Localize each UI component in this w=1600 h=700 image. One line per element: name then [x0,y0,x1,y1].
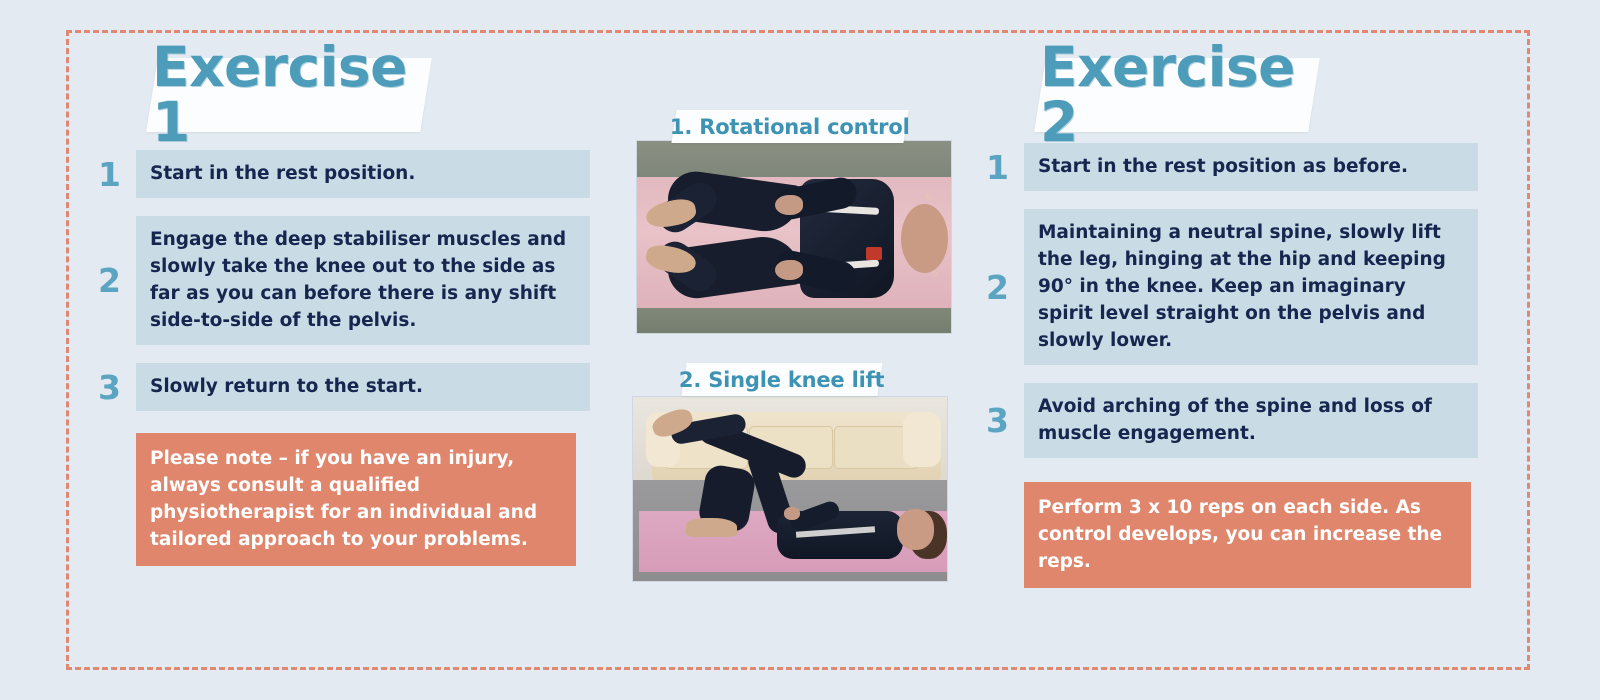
exercise1-title: Exercise 1 [152,40,426,150]
photo-1-caption: 1. Rotational control [670,115,910,139]
infographic-poster: Exercise 1 Exercise 2 1 Start in the res… [0,0,1600,700]
exercise2-title-banner: Exercise 2 [1034,58,1320,132]
step-number: 1 [90,158,136,191]
step-number: 2 [978,271,1024,304]
exercise1-column: 1 Start in the rest position. 2 Engage t… [90,150,590,566]
step-number: 3 [90,371,136,404]
step-text: Engage the deep stabiliser muscles and s… [136,216,590,345]
photo-1-caption-banner: 1. Rotational control [671,110,908,143]
jacket-badge [866,247,882,260]
upper-hand [775,195,803,215]
photo-2-caption: 2. Single knee lift [679,368,884,392]
exercise1-step-2: 2 Engage the deep stabiliser muscles and… [90,216,590,345]
exercise1-step-1: 1 Start in the rest position. [90,150,590,198]
support-foot [686,518,736,536]
exercise2-step-2: 2 Maintaining a neutral spine, slowly li… [978,209,1478,365]
hand [784,507,800,520]
exercise1-note: Please note – if you have an injury, alw… [136,433,576,566]
head [897,509,935,549]
step-number: 2 [90,264,136,297]
exercise2-column: 1 Start in the rest position as before. … [978,143,1478,588]
exercise2-step-1: 1 Start in the rest position as before. [978,143,1478,191]
step-number: 3 [978,404,1024,437]
photo-2-single-knee-lift: ○ [632,396,948,582]
photo-2-image: ○ [632,396,948,582]
step-text: Maintaining a neutral spine, slowly lift… [1024,209,1478,365]
photo-1-rotational-control: ○ ○ [636,140,952,334]
lower-hand [775,260,803,280]
sofa-armrest [903,412,941,467]
exercise1-title-banner: Exercise 1 [146,58,432,132]
mat-logo-icon: ○ [926,191,933,203]
photo-1-image: ○ ○ [636,140,952,334]
step-text: Start in the rest position. [136,150,590,198]
step-text: Start in the rest position as before. [1024,143,1478,191]
step-text: Avoid arching of the spine and loss of m… [1024,383,1478,458]
step-number: 1 [978,151,1024,184]
head [901,204,948,273]
step-text: Slowly return to the start. [136,363,590,411]
exercise2-note: Perform 3 x 10 reps on each side. As con… [1024,482,1471,588]
exercise1-step-3: 3 Slowly return to the start. [90,363,590,411]
exercise2-step-3: 3 Avoid arching of the spine and loss of… [978,383,1478,458]
photo-2-caption-banner: 2. Single knee lift [681,363,882,396]
floor-bottom [637,308,951,333]
exercise2-title: Exercise 2 [1040,40,1314,150]
